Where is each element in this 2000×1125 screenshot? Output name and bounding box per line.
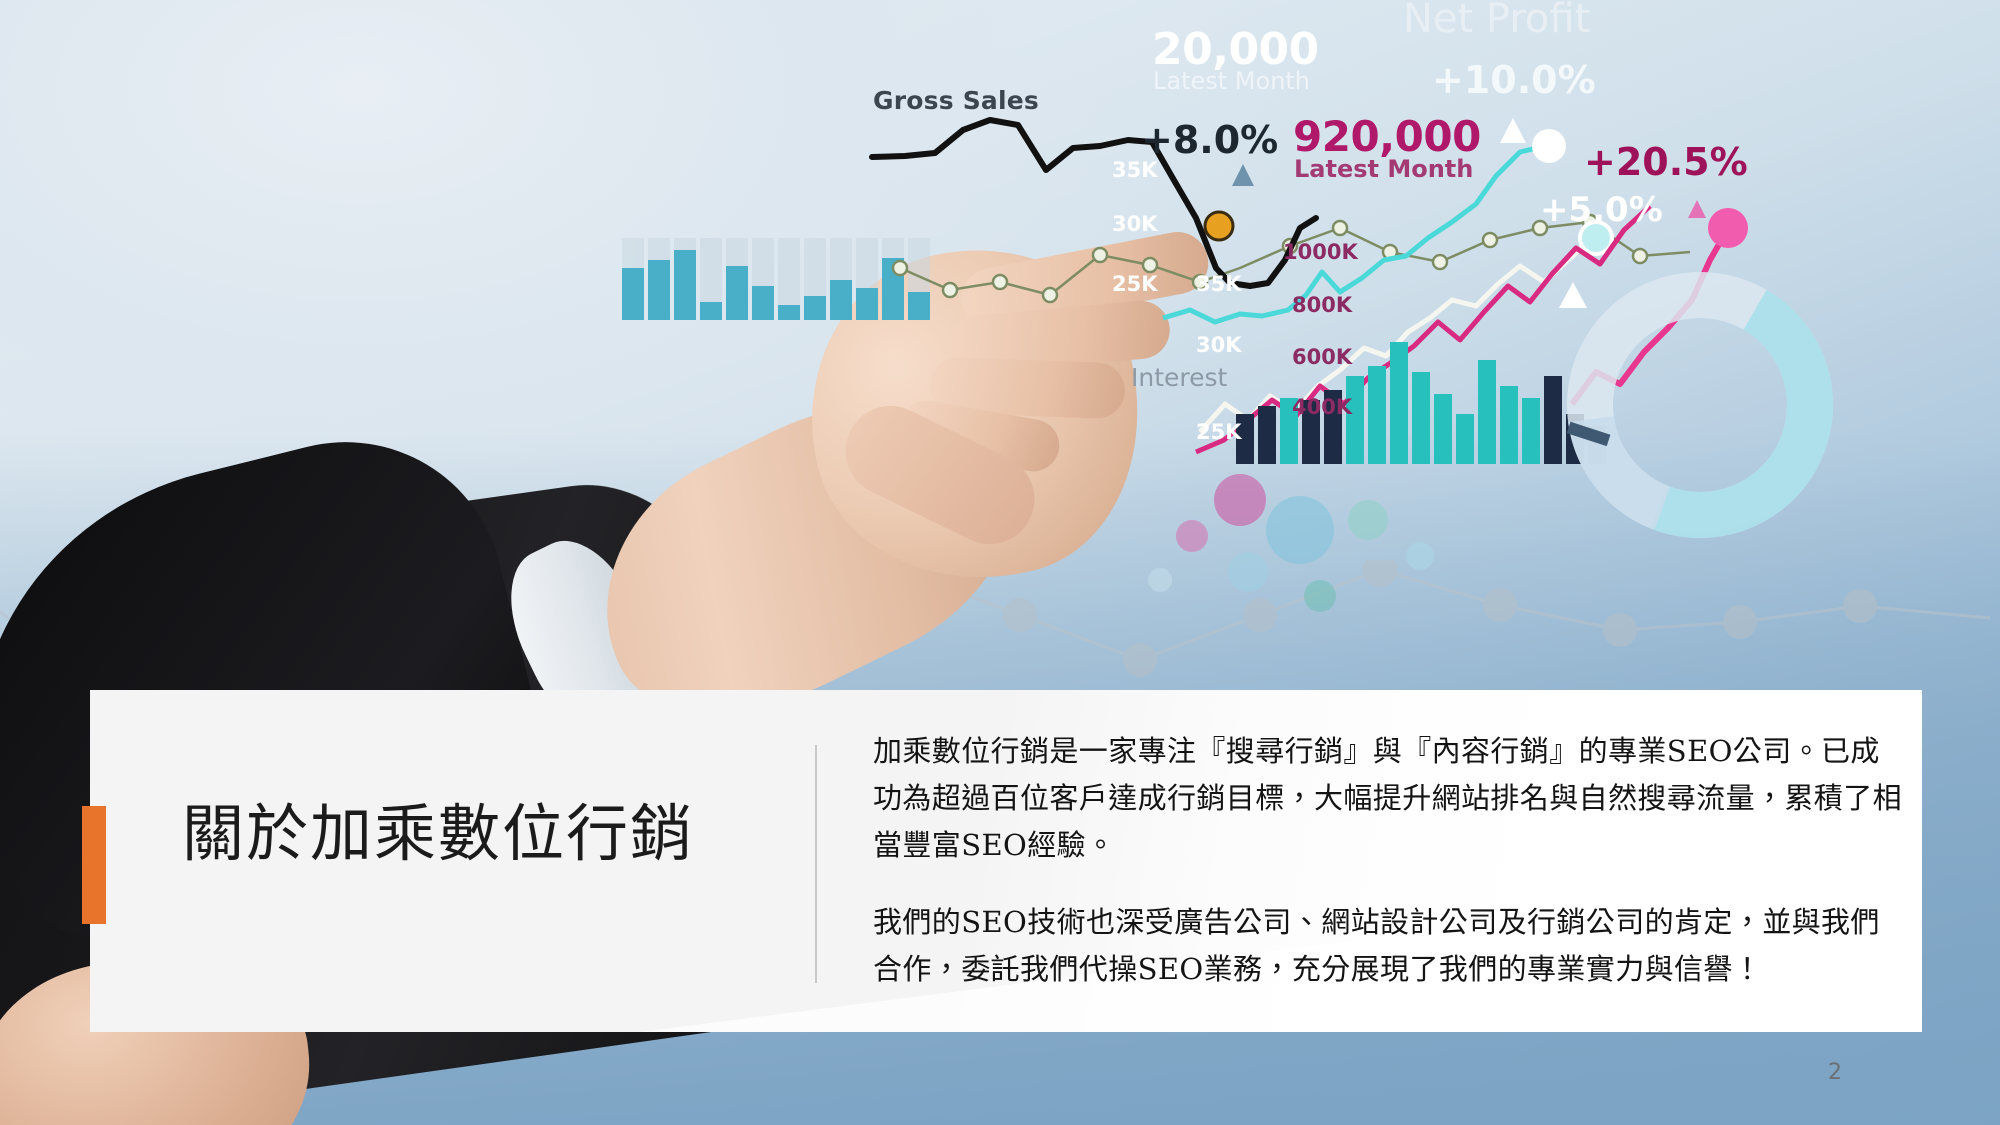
donut-chart <box>1550 255 1851 556</box>
interest-label: Interest <box>1131 363 1227 392</box>
axis-tick-25k-a: 25K <box>1112 272 1158 296</box>
value-920000: 920,000 <box>1293 112 1481 161</box>
orange-accent-bar <box>82 806 106 924</box>
axis-tick-30k-a: 30K <box>1112 212 1158 236</box>
gross-sales-endpoint <box>1205 212 1233 240</box>
delta-205-percent: +20.5% <box>1584 140 1748 184</box>
axis-tick-25k-b: 25K <box>1196 420 1242 444</box>
bubble-cluster <box>1148 474 1434 612</box>
gross-sales-label: Gross Sales <box>873 86 1039 115</box>
net-profit-label: Net Profit <box>1403 0 1590 42</box>
delta-10-percent: +10.0% <box>1432 58 1596 102</box>
vertical-divider <box>815 745 817 983</box>
axis-tick-35k-b: 35K <box>1196 272 1242 296</box>
axis-tick-400k: 400K <box>1292 395 1352 419</box>
body-paragraph-2: 我們的SEO技術也深受廣告公司、網站設計公司及行銷公司的肯定，並與我們合作，委託… <box>873 899 1903 993</box>
axis-tick-800k: 800K <box>1292 293 1352 317</box>
left-bar-chart <box>622 238 930 320</box>
slide-canvas: Gross Sales Interest 20,000 Latest Month… <box>0 0 2000 1125</box>
axis-tick-600k: 600K <box>1292 345 1352 369</box>
cyan-line-endpoint <box>1532 129 1566 163</box>
latest-month-label-2: Latest Month <box>1294 155 1473 183</box>
axis-tick-1000k: 1000K <box>1283 240 1358 264</box>
delta-5-percent: +5.0% <box>1540 190 1663 230</box>
axis-tick-35k-a: 35K <box>1112 158 1158 182</box>
latest-month-label-1: Latest Month <box>1153 67 1310 95</box>
axis-tick-30k-b: 30K <box>1196 333 1242 357</box>
page-number: 2 <box>1828 1060 1842 1085</box>
pink-line-endpoint <box>1708 208 1748 248</box>
body-paragraph-1: 加乘數位行銷是一家專注『搜尋行銷』與『內容行銷』的專業SEO公司。已成功為超過百… <box>873 728 1903 869</box>
page-title: 關於加乘數位行銷 <box>182 800 782 868</box>
delta-8-percent: +8.0% <box>1141 118 1278 162</box>
body-copy: 加乘數位行銷是一家專注『搜尋行銷』與『內容行銷』的專業SEO公司。已成功為超過百… <box>873 728 1903 993</box>
